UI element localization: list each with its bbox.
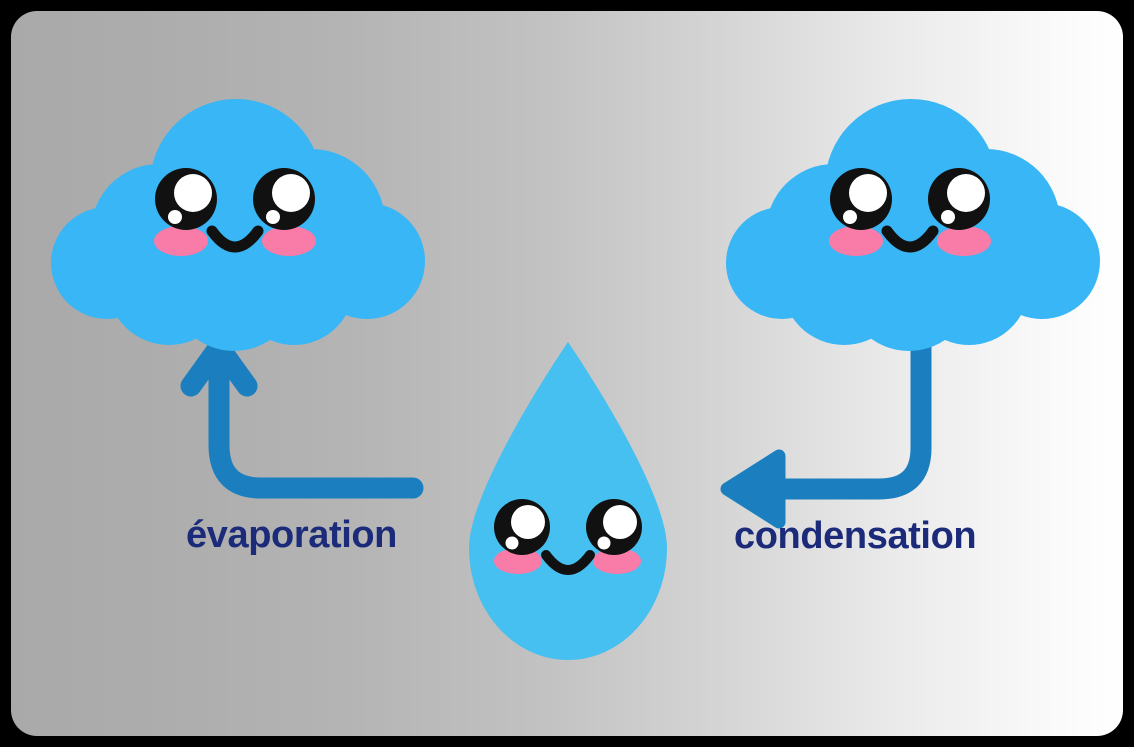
droplet-body	[469, 342, 667, 660]
label-evaporation: évaporation	[186, 516, 397, 554]
label-condensation: condensation	[734, 517, 976, 555]
water-droplet	[11, 11, 1123, 736]
diagram-panel: évaporation condensation	[11, 11, 1123, 736]
illustration-canvas: évaporation condensation	[0, 0, 1134, 747]
eye-right	[586, 499, 642, 555]
eye-left	[494, 499, 550, 555]
